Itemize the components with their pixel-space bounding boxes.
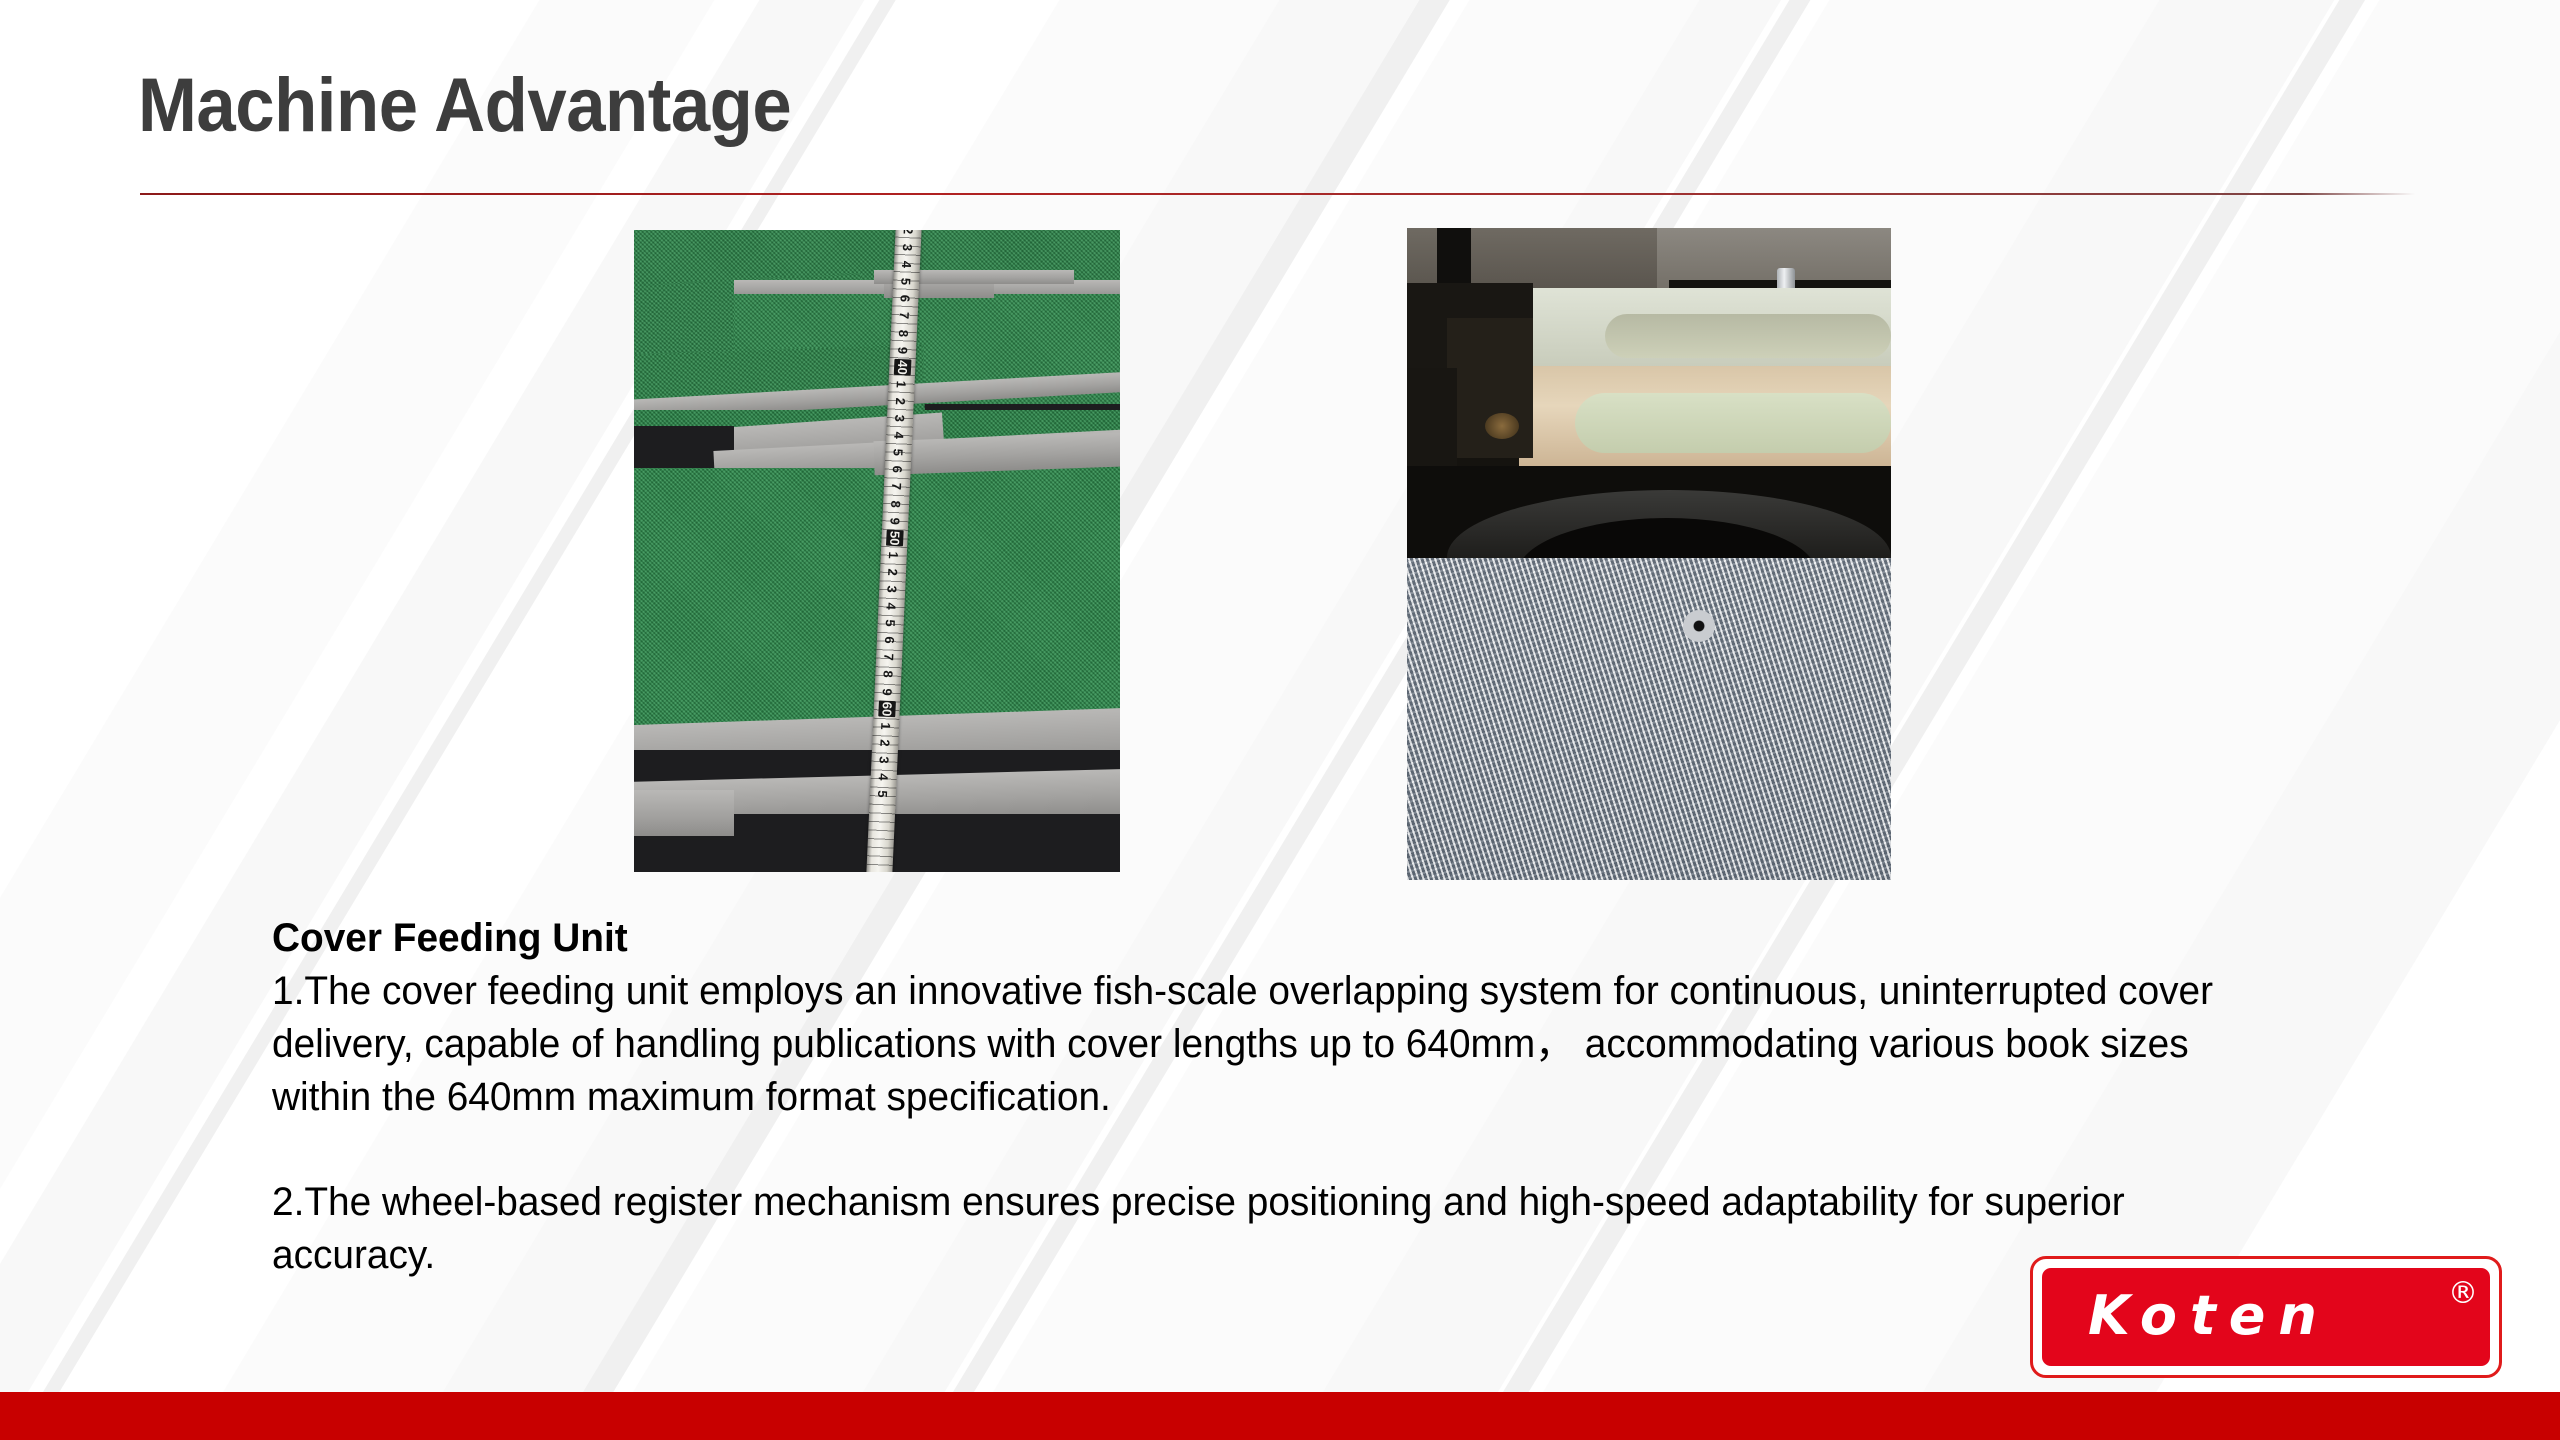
page-title: Machine Advantage (138, 62, 791, 149)
koten-logo: Koten ® (2030, 1256, 2502, 1378)
cover-feeding-conveyor-photo: 234567 8940 123456 78950 123456 78960 12… (634, 230, 1120, 872)
body-paragraph-1: 1.The cover feeding unit employs an inno… (272, 965, 2270, 1124)
footer-accent-bar (0, 1392, 2560, 1440)
body-heading: Cover Feeding Unit (272, 912, 2270, 965)
register-mechanism-photo (1407, 228, 1891, 880)
body-copy: Cover Feeding Unit 1.The cover feeding u… (272, 912, 2270, 1282)
registered-trademark-icon: ® (2448, 1276, 2478, 1311)
koten-logo-plate: Koten ® (2042, 1268, 2490, 1366)
slide-machine-advantage: Machine Advantage (0, 0, 2560, 1440)
body-paragraph-2: 2.The wheel-based register mechanism ens… (272, 1176, 2270, 1282)
paragraph-spacer (272, 1124, 2270, 1176)
koten-wordmark: Koten (2088, 1284, 2330, 1347)
title-underline-rule (140, 193, 2415, 195)
